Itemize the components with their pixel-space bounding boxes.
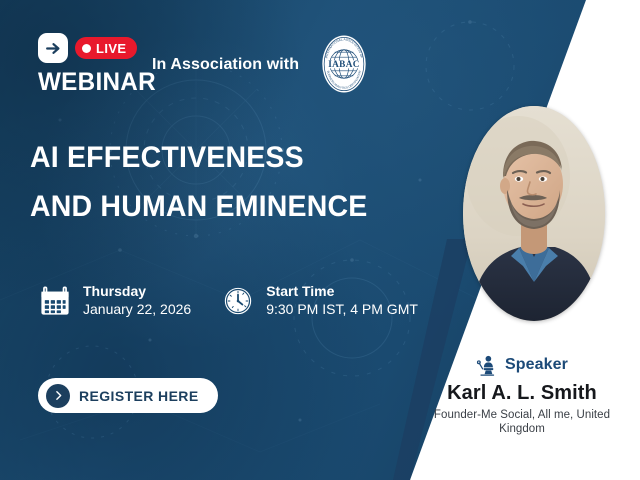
event-date-label: Thursday (83, 283, 191, 301)
event-date-text: Thursday January 22, 2026 (83, 283, 191, 319)
speaker-photo (463, 106, 605, 321)
live-badge: LIVE (75, 37, 137, 59)
register-button[interactable]: REGISTER HERE (38, 378, 218, 413)
chevron-right-circle-icon (46, 384, 70, 408)
iabac-logo-text: IABAC (328, 60, 360, 70)
arrow-right-icon (38, 33, 68, 63)
event-details-row: Thursday January 22, 2026 Start Time 9:3… (38, 283, 418, 319)
page-title: AI EFFECTIVENESS AND HUMAN EMINENCE (30, 134, 430, 231)
title-line-1: AI EFFECTIVENESS (30, 134, 410, 183)
association-text: In Association with (152, 56, 299, 74)
speaker-affiliation: Founder-Me Social, All me, United Kingdo… (414, 409, 630, 437)
speaker-name: Karl A. L. Smith (414, 382, 630, 404)
event-date-item: Thursday January 22, 2026 (38, 283, 191, 319)
event-time-text: Start Time 9:30 PM IST, 4 PM GMT (266, 283, 418, 319)
register-button-label: REGISTER HERE (79, 388, 199, 404)
clock-icon (221, 284, 255, 318)
speaker-heading-row: Speaker (414, 354, 630, 376)
event-time-label: Start Time (266, 283, 418, 301)
calendar-icon (38, 284, 72, 318)
live-label: LIVE (96, 42, 127, 55)
webinar-poster: LIVE WEBINAR In Association with IABAC I… (0, 0, 640, 480)
record-dot-icon (82, 44, 91, 53)
portrait-illustration (463, 106, 605, 321)
event-time-value: 9:30 PM IST, 4 PM GMT (266, 301, 418, 319)
speaker-info: Speaker Karl A. L. Smith Founder-Me Soci… (414, 354, 630, 437)
iabac-logo: IABAC INTERNATIONAL ASSOCIATION OF BUSIN… (313, 33, 375, 95)
event-date-value: January 22, 2026 (83, 301, 191, 319)
event-time-item: Start Time 9:30 PM IST, 4 PM GMT (221, 283, 418, 319)
title-line-2: AND HUMAN EMINENCE (30, 183, 410, 232)
speaker-section-label: Speaker (505, 356, 568, 374)
presenter-podium-icon (476, 354, 498, 376)
